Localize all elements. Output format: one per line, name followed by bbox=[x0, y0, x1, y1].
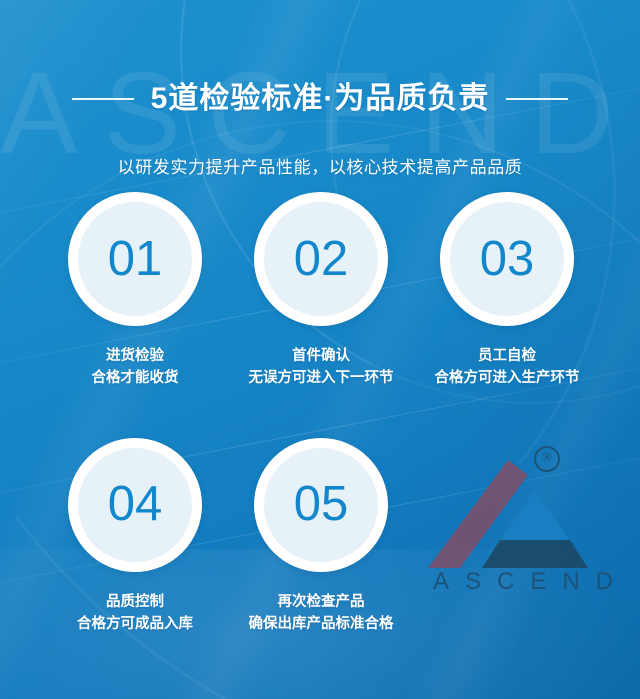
step-circle-inner-04: 04 bbox=[78, 448, 192, 562]
step-circle-04: 04 bbox=[68, 438, 202, 572]
step-caption-line1-02: 首件确认 bbox=[292, 348, 350, 364]
step-caption-line1-05: 再次检查产品 bbox=[278, 594, 365, 610]
title-rule-left bbox=[72, 98, 134, 100]
step-circle-inner-05: 05 bbox=[264, 448, 378, 562]
page-title: 5道检验标准·为品质负责 bbox=[151, 82, 490, 117]
step-caption-line1-03: 员工自检 bbox=[478, 348, 536, 364]
step-number-03: 03 bbox=[480, 235, 535, 284]
registered-trademark-icon: ® bbox=[534, 446, 560, 472]
step-caption-line2-04: 合格方可成品入库 bbox=[77, 613, 193, 635]
step-circle-05: 05 bbox=[254, 438, 388, 572]
step-caption-line2-05: 确保出库产品标准合格 bbox=[249, 613, 394, 635]
logo-wordmark: ASCEND bbox=[416, 568, 630, 596]
step-number-01: 01 bbox=[108, 235, 163, 284]
step-number-02: 02 bbox=[294, 235, 349, 284]
step-item-01: 01 进货检验 合格才能收货 bbox=[68, 192, 202, 390]
step-item-02: 02 首件确认 无误方可进入下一环节 bbox=[254, 192, 388, 390]
ascend-logo: ® ASCEND bbox=[420, 440, 630, 600]
step-item-04: 04 品质控制 合格方可成品入库 bbox=[68, 438, 202, 636]
step-caption-05: 再次检查产品 确保出库产品标准合格 bbox=[249, 591, 394, 636]
step-circle-03: 03 bbox=[440, 192, 574, 326]
step-caption-line1-01: 进货检验 bbox=[106, 348, 164, 364]
step-item-03: 03 员工自检 合格方可进入生产环节 bbox=[440, 192, 574, 390]
promo-poster: ASCEND 5道检验标准·为品质负责 以研发实力提升产品性能，以核心技术提高产… bbox=[0, 0, 640, 699]
poster-header: 5道检验标准·为品质负责 以研发实力提升产品性能，以核心技术提高产品品质 bbox=[0, 62, 640, 178]
step-caption-03: 员工自检 合格方可进入生产环节 bbox=[435, 345, 580, 390]
page-subtitle: 以研发实力提升产品性能，以核心技术提高产品品质 bbox=[0, 153, 640, 178]
step-caption-01: 进货检验 合格才能收货 bbox=[92, 345, 179, 390]
step-circle-02: 02 bbox=[254, 192, 388, 326]
step-circle-inner-03: 03 bbox=[450, 202, 564, 316]
logo-base-shape bbox=[482, 540, 588, 568]
title-rule-right bbox=[506, 98, 568, 100]
step-number-05: 05 bbox=[294, 480, 349, 529]
step-caption-line1-04: 品质控制 bbox=[106, 594, 164, 610]
step-caption-line2-03: 合格方可进入生产环节 bbox=[435, 367, 580, 389]
step-circle-inner-01: 01 bbox=[78, 202, 192, 316]
step-caption-line2-01: 合格才能收货 bbox=[92, 367, 179, 389]
step-number-04: 04 bbox=[108, 480, 163, 529]
step-item-05: 05 再次检查产品 确保出库产品标准合格 bbox=[254, 438, 388, 636]
step-circle-inner-02: 02 bbox=[264, 202, 378, 316]
step-circle-01: 01 bbox=[68, 192, 202, 326]
step-caption-04: 品质控制 合格方可成品入库 bbox=[77, 591, 193, 636]
step-caption-02: 首件确认 无误方可进入下一环节 bbox=[249, 345, 394, 390]
steps-row-1: 01 进货检验 合格才能收货 02 首件确认 无误方可进入下一环节 bbox=[0, 192, 640, 390]
title-row: 5道检验标准·为品质负责 bbox=[0, 62, 640, 137]
step-caption-line2-02: 无误方可进入下一环节 bbox=[249, 367, 394, 389]
